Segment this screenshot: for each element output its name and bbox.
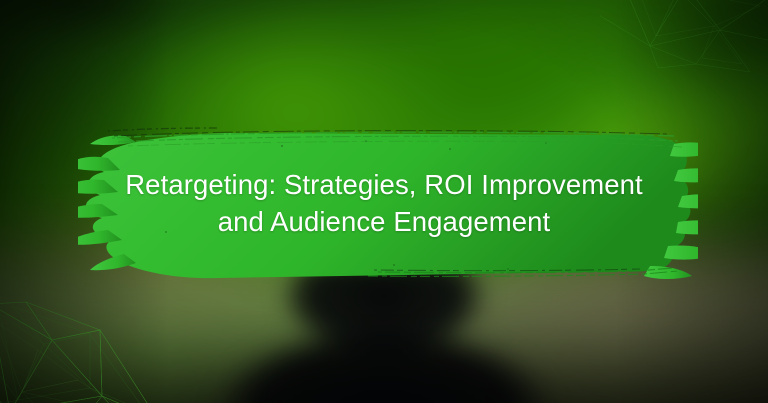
hero-banner: Retargeting: Strategies, ROI Improvement… bbox=[0, 0, 768, 403]
hero-title-line-2: and Audience Engagement bbox=[218, 206, 551, 237]
hero-title-line-1: Retargeting: Strategies, ROI Improvement bbox=[125, 169, 643, 200]
hero-title: Retargeting: Strategies, ROI Improvement… bbox=[0, 166, 768, 240]
